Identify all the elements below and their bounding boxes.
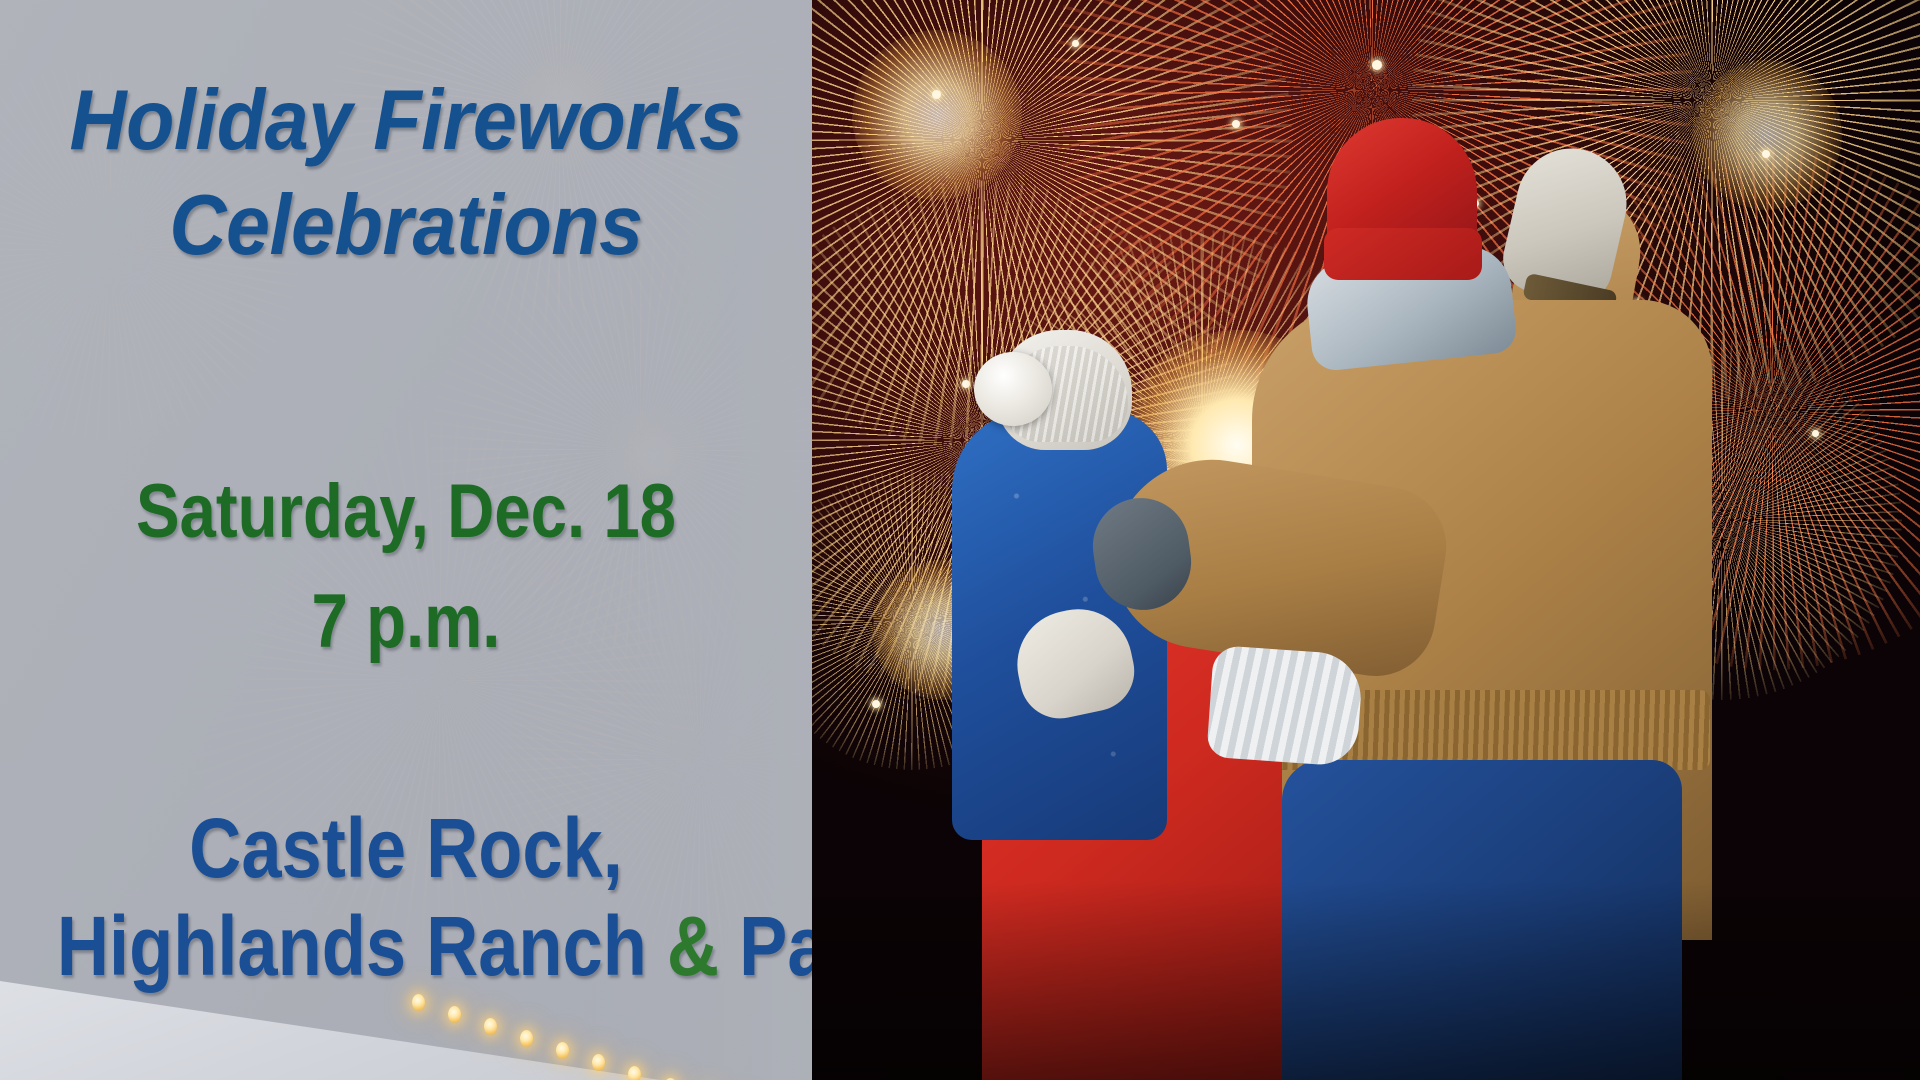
man-white-glove [1206,645,1363,767]
spark [1762,150,1770,158]
poster-text-stack: Holiday Fireworks Celebrations Saturday,… [0,0,812,1080]
event-time: 7 p.m. [57,578,755,665]
ampersand: & [667,899,719,993]
woman-beanie-pompom [974,352,1052,426]
event-location-line-2: Highlands Ranch & Parker [57,898,755,995]
location-suffix: Parker [719,899,812,993]
spark [872,700,880,708]
spark [1232,120,1240,128]
spark [1372,60,1382,70]
photo-bottom-vignette [812,880,1920,1080]
spark [932,90,941,99]
event-date: Saturday, Dec. 18 [57,468,755,555]
spark [962,380,970,388]
fireworks-photo [812,0,1920,1080]
firework-core [1692,60,1842,210]
event-location-line-1: Castle Rock, [57,800,755,897]
spark [1072,40,1079,47]
holiday-fireworks-poster: Holiday Fireworks Celebrations Saturday,… [0,0,1920,1080]
page-title-line-1: Holiday Fireworks [28,78,783,165]
page-title-line-2: Celebrations [28,183,783,270]
left-text-panel: Holiday Fireworks Celebrations Saturday,… [0,0,812,1080]
man-beanie-cuff [1324,228,1482,280]
location-prefix: Highlands Ranch [57,899,667,993]
spark [1812,430,1819,437]
firework-core [852,30,1022,200]
